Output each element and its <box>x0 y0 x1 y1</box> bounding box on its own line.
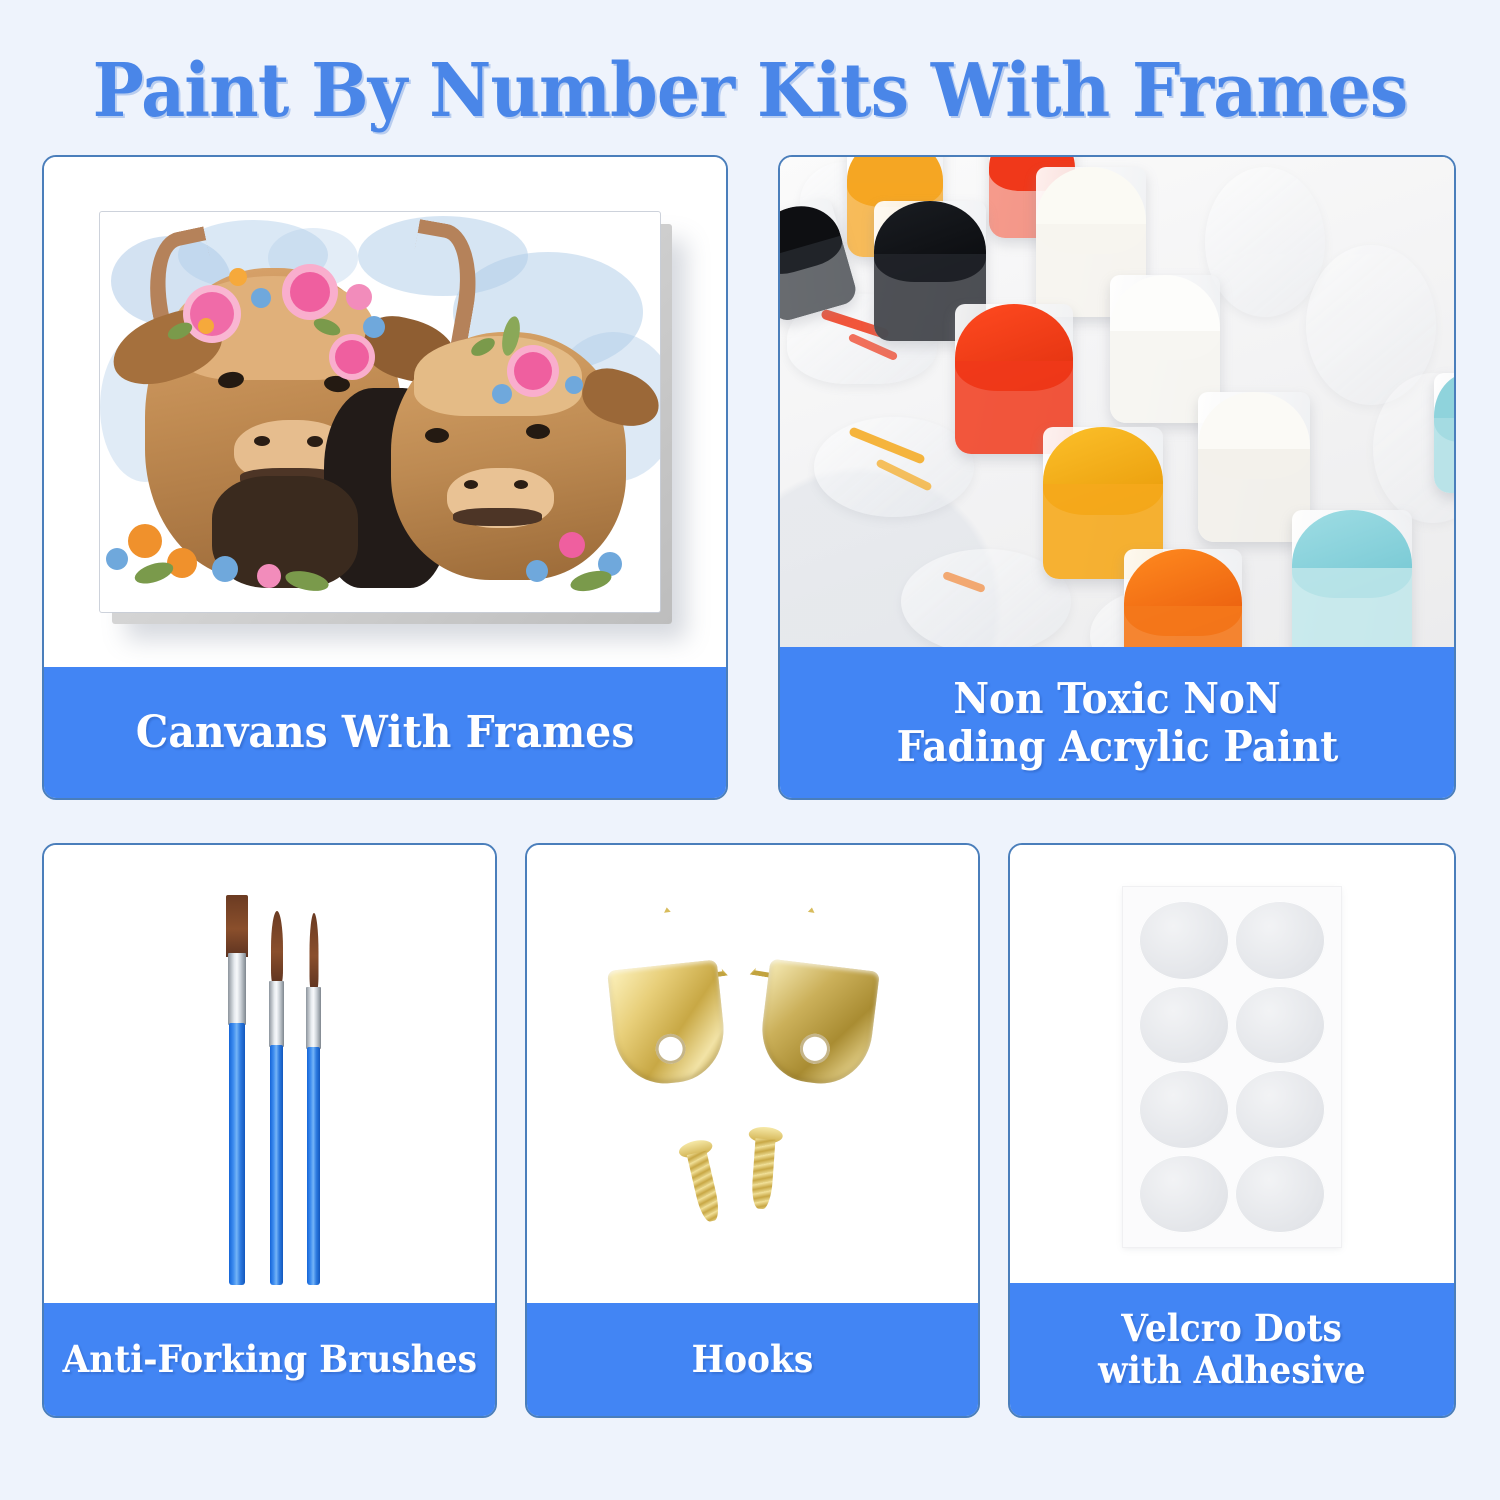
product-infographic: Paint By Number Kits With Frames <box>0 0 1500 1500</box>
brush-tip <box>309 913 318 991</box>
screw-shaft <box>751 1138 776 1209</box>
cow-artwork <box>100 212 660 612</box>
caption-line: Hooks <box>692 1339 814 1380</box>
hooks-image <box>527 845 978 1303</box>
card-caption-paint: Non Toxic NoN Fading Acrylic Paint <box>780 647 1454 798</box>
velcro-sheet <box>1123 887 1341 1247</box>
velcro-dot <box>1139 986 1229 1065</box>
velcro-dot <box>1139 1155 1229 1234</box>
hook-right <box>749 905 879 1105</box>
brush-ferrule <box>228 953 246 1025</box>
canvas-image <box>44 157 726 667</box>
feature-card-paint[interactable]: Non Toxic NoN Fading Acrylic Paint <box>778 155 1456 800</box>
brush-ferrule <box>269 981 284 1047</box>
hook-plate <box>756 959 880 1090</box>
feature-card-hooks[interactable]: Hooks <box>525 843 980 1418</box>
card-caption-brushes: Anti-Forking Brushes <box>44 1303 495 1416</box>
page-title: Paint By Number Kits With Frames <box>60 48 1440 134</box>
hook-left <box>605 907 735 1107</box>
feature-card-velcro[interactable]: Velcro Dots with Adhesive <box>1008 843 1456 1418</box>
caption-line: Fading Acrylic Paint <box>896 723 1338 770</box>
paint-pots-image <box>780 157 1454 647</box>
canvas-face <box>100 212 660 612</box>
feature-card-brushes[interactable]: Anti-Forking Brushes <box>42 843 497 1418</box>
caption-line: Velcro Dots <box>1122 1308 1343 1349</box>
brush-flat <box>229 895 245 1285</box>
brush-detail <box>307 913 320 1285</box>
caption-line: with Adhesive <box>1098 1350 1366 1391</box>
brush-round <box>270 911 283 1285</box>
brushes-image <box>44 845 495 1303</box>
screw-shaft <box>687 1151 722 1224</box>
brush-handle <box>229 1023 245 1285</box>
velcro-dot <box>1139 901 1229 980</box>
brush-handle <box>307 1047 320 1285</box>
velcro-image <box>1010 845 1454 1283</box>
card-caption-canvas: Canvans With Frames <box>44 667 726 798</box>
velcro-dot <box>1139 1070 1229 1149</box>
brush-ferrule <box>306 987 321 1049</box>
card-caption-hooks: Hooks <box>527 1303 978 1416</box>
card-caption-velcro: Velcro Dots with Adhesive <box>1010 1283 1454 1416</box>
brush-handle <box>270 1045 283 1285</box>
caption-line: Canvans With Frames <box>136 708 635 757</box>
caption-line: Non Toxic NoN <box>953 675 1280 722</box>
screw-left <box>674 1137 733 1234</box>
velcro-dot <box>1235 1070 1325 1149</box>
brush-tip <box>226 895 248 957</box>
velcro-dot <box>1235 901 1325 980</box>
hook-plate <box>607 960 729 1089</box>
velcro-dot <box>1235 1155 1325 1234</box>
framed-canvas <box>100 212 660 612</box>
velcro-dot <box>1235 986 1325 1065</box>
paint-photo <box>780 157 1454 647</box>
screw-right <box>740 1126 787 1224</box>
brush-tip <box>271 911 283 985</box>
feature-card-canvas[interactable]: Canvans With Frames <box>42 155 728 800</box>
caption-line: Anti-Forking Brushes <box>62 1339 476 1380</box>
